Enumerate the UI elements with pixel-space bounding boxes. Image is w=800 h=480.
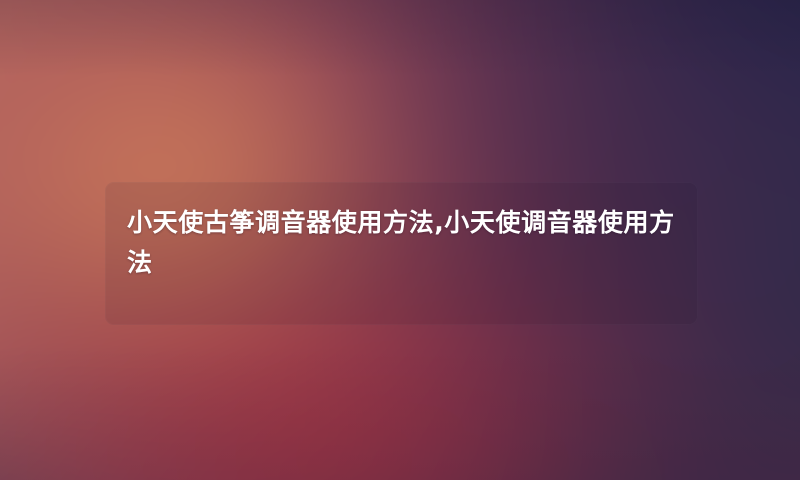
page-title: 小天使古筝调音器使用方法,小天使调音器使用方法 — [127, 203, 683, 283]
gradient-title-banner: 小天使古筝调音器使用方法,小天使调音器使用方法 — [0, 0, 800, 480]
